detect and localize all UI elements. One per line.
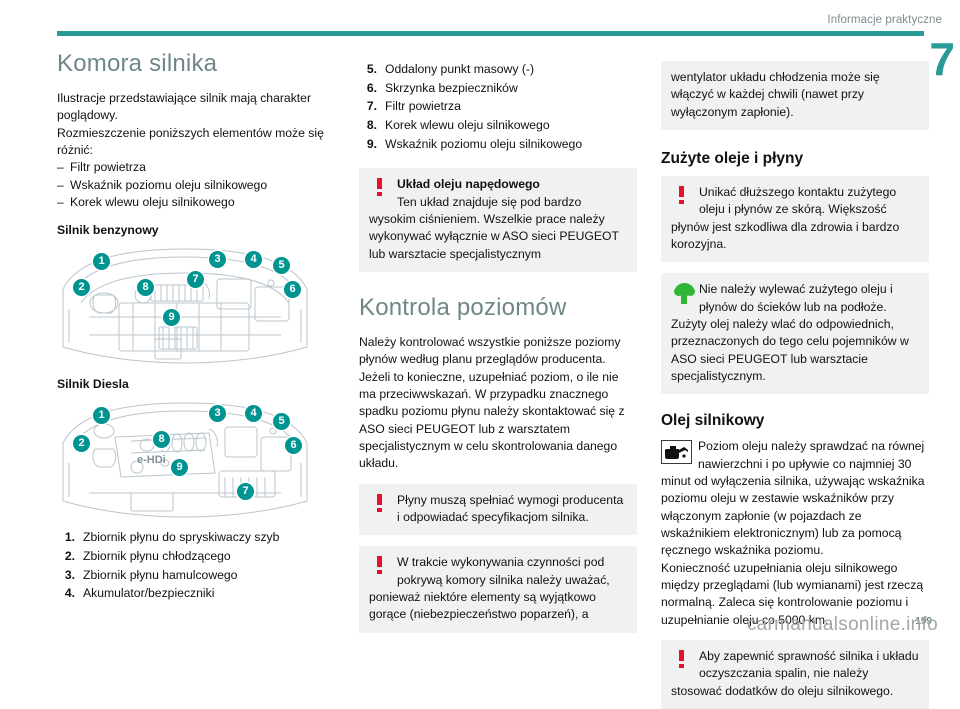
list-item: 8.Korek wlewu oleju silnikowego xyxy=(359,117,637,135)
engine-parts-list-2: 5.Oddalony punkt masowy (-) 6.Skrzynka b… xyxy=(359,61,637,153)
page-title: Komora silnika xyxy=(57,50,335,78)
list-item: Wskaźnik poziomu oleju silnikowego xyxy=(57,177,335,194)
warning-fluid-spec: Płyny muszą spełniać wymogi producenta i… xyxy=(359,484,637,536)
list-item-number: 4. xyxy=(57,585,75,603)
warning-hot-parts-continued: wentylator układu chłodzenia może się wł… xyxy=(661,61,929,130)
list-item: 6.Skrzynka bezpieczników xyxy=(359,80,637,98)
callout-text: Unikać dłuższego kontaktu zużytego oleju… xyxy=(671,185,899,251)
engine-parts-list-1: 1.Zbiornik płynu do spryskiwaczy szyb 2.… xyxy=(57,529,335,603)
list-item-label: Korek wlewu oleju silnikowego xyxy=(385,118,550,132)
warning-icon xyxy=(673,649,695,673)
section-label: Informacje praktyczne xyxy=(827,14,942,26)
column-2: 5.Oddalony punkt masowy (-) 6.Skrzynka b… xyxy=(359,48,637,618)
callout-text: Ten układ znajduje się pod bardzo wysoki… xyxy=(369,195,619,261)
levels-check-body: Należy kontrolować wszystkie poniższe po… xyxy=(359,334,637,473)
list-item-label: Zbiornik płynu do spryskiwaczy szyb xyxy=(83,530,279,544)
oil-can-icon xyxy=(661,440,692,464)
levels-check-title: Kontrola poziomów xyxy=(359,294,637,322)
page-header: Informacje praktyczne xyxy=(0,0,960,40)
header-rule xyxy=(57,31,924,36)
list-item-number: 7. xyxy=(359,98,377,116)
warning-no-additives: Aby zapewnić sprawność silnika i układu … xyxy=(661,640,929,709)
used-oils-title: Zużyte oleje i płyny xyxy=(661,150,929,168)
list-item: 1.Zbiornik płynu do spryskiwaczy szyb xyxy=(57,529,335,547)
oil-level-note: Poziom oleju należy sprawdzać na równej … xyxy=(661,438,929,559)
list-item-number: 8. xyxy=(359,117,377,135)
chapter-number: 7 xyxy=(929,36,954,82)
list-item-label: Oddalony punkt masowy (-) xyxy=(385,62,534,76)
petrol-engine-heading: Silnik benzynowy xyxy=(57,223,335,237)
warning-icon xyxy=(673,185,695,209)
list-item: 5.Oddalony punkt masowy (-) xyxy=(359,61,637,79)
intro-paragraph-2: Rozmieszczenie poniższych elementów może… xyxy=(57,125,335,160)
diesel-engine-diagram: e-HDi 1 2 3 4 5 6 7 8 9 xyxy=(59,397,311,519)
list-item: 2.Zbiornik płynu chłodzącego xyxy=(57,548,335,566)
intro-paragraph-1: Ilustracje przedstawiające silnik mają c… xyxy=(57,90,335,125)
watermark: carmanualsonline.info xyxy=(747,614,938,636)
list-item-label: Zbiornik płynu chłodzącego xyxy=(83,549,231,563)
list-item: 3.Zbiornik płynu hamulcowego xyxy=(57,567,335,585)
callout-text: wentylator układu chłodzenia może się wł… xyxy=(671,70,880,119)
eco-tree-icon xyxy=(673,282,695,306)
content-columns: Komora silnika Ilustracje przedstawiając… xyxy=(57,48,924,618)
warning-icon xyxy=(371,555,393,579)
callout-text: Aby zapewnić sprawność silnika i układu … xyxy=(671,649,918,698)
varying-elements-list: Filtr powietrza Wskaźnik poziomu oleju s… xyxy=(57,159,335,211)
list-item-label: Skrzynka bezpieczników xyxy=(385,81,518,95)
list-item: Filtr powietrza xyxy=(57,159,335,176)
list-item-number: 6. xyxy=(359,80,377,98)
list-item: 7.Filtr powietrza xyxy=(359,98,637,116)
list-item-number: 2. xyxy=(57,548,75,566)
eco-disposal-note: Nie należy wylewać zużytego oleju i płyn… xyxy=(661,273,929,394)
warning-skin-contact: Unikać dłuższego kontaktu zużytego oleju… xyxy=(661,176,929,262)
callout-text: Nie należy wylewać zużytego oleju i płyn… xyxy=(671,282,909,383)
list-item: Korek wlewu oleju silnikowego xyxy=(57,194,335,211)
warning-icon xyxy=(371,493,393,517)
column-1: Komora silnika Ilustracje przedstawiając… xyxy=(57,48,335,618)
list-item-number: 5. xyxy=(359,61,377,79)
list-item-label: Wskaźnik poziomu oleju silnikowego xyxy=(385,137,582,151)
list-item-label: Zbiornik płynu hamulcowego xyxy=(83,568,237,582)
engine-oil-title: Olej silnikowy xyxy=(661,412,929,430)
callout-text: W trakcie wykonywania czynności pod pokr… xyxy=(369,555,610,621)
warning-hot-parts: W trakcie wykonywania czynności pod pokr… xyxy=(359,546,637,632)
list-item: 9.Wskaźnik poziomu oleju silnikowego xyxy=(359,136,637,154)
list-item-number: 9. xyxy=(359,136,377,154)
column-3: wentylator układu chłodzenia może się wł… xyxy=(661,48,929,618)
warning-icon xyxy=(371,177,393,201)
list-item-label: Filtr powietrza xyxy=(385,99,461,113)
list-item-label: Akumulator/bezpieczniki xyxy=(83,586,214,600)
warning-fuel-system: Układ oleju napędowego Ten układ znajduj… xyxy=(359,168,637,272)
diesel-engine-heading: Silnik Diesla xyxy=(57,377,335,391)
petrol-engine-diagram: 1 2 3 4 5 6 7 8 9 xyxy=(59,243,311,365)
callout-text: Płyny muszą spełniać wymogi producenta i… xyxy=(397,493,623,524)
list-item-number: 3. xyxy=(57,567,75,585)
list-item: 4.Akumulator/bezpieczniki xyxy=(57,585,335,603)
list-item-number: 1. xyxy=(57,529,75,547)
oil-note-text: Poziom oleju należy sprawdzać na równej … xyxy=(661,439,925,557)
svg-text:e-HDi: e-HDi xyxy=(137,454,166,466)
callout-title: Układ oleju napędowego xyxy=(397,177,540,191)
